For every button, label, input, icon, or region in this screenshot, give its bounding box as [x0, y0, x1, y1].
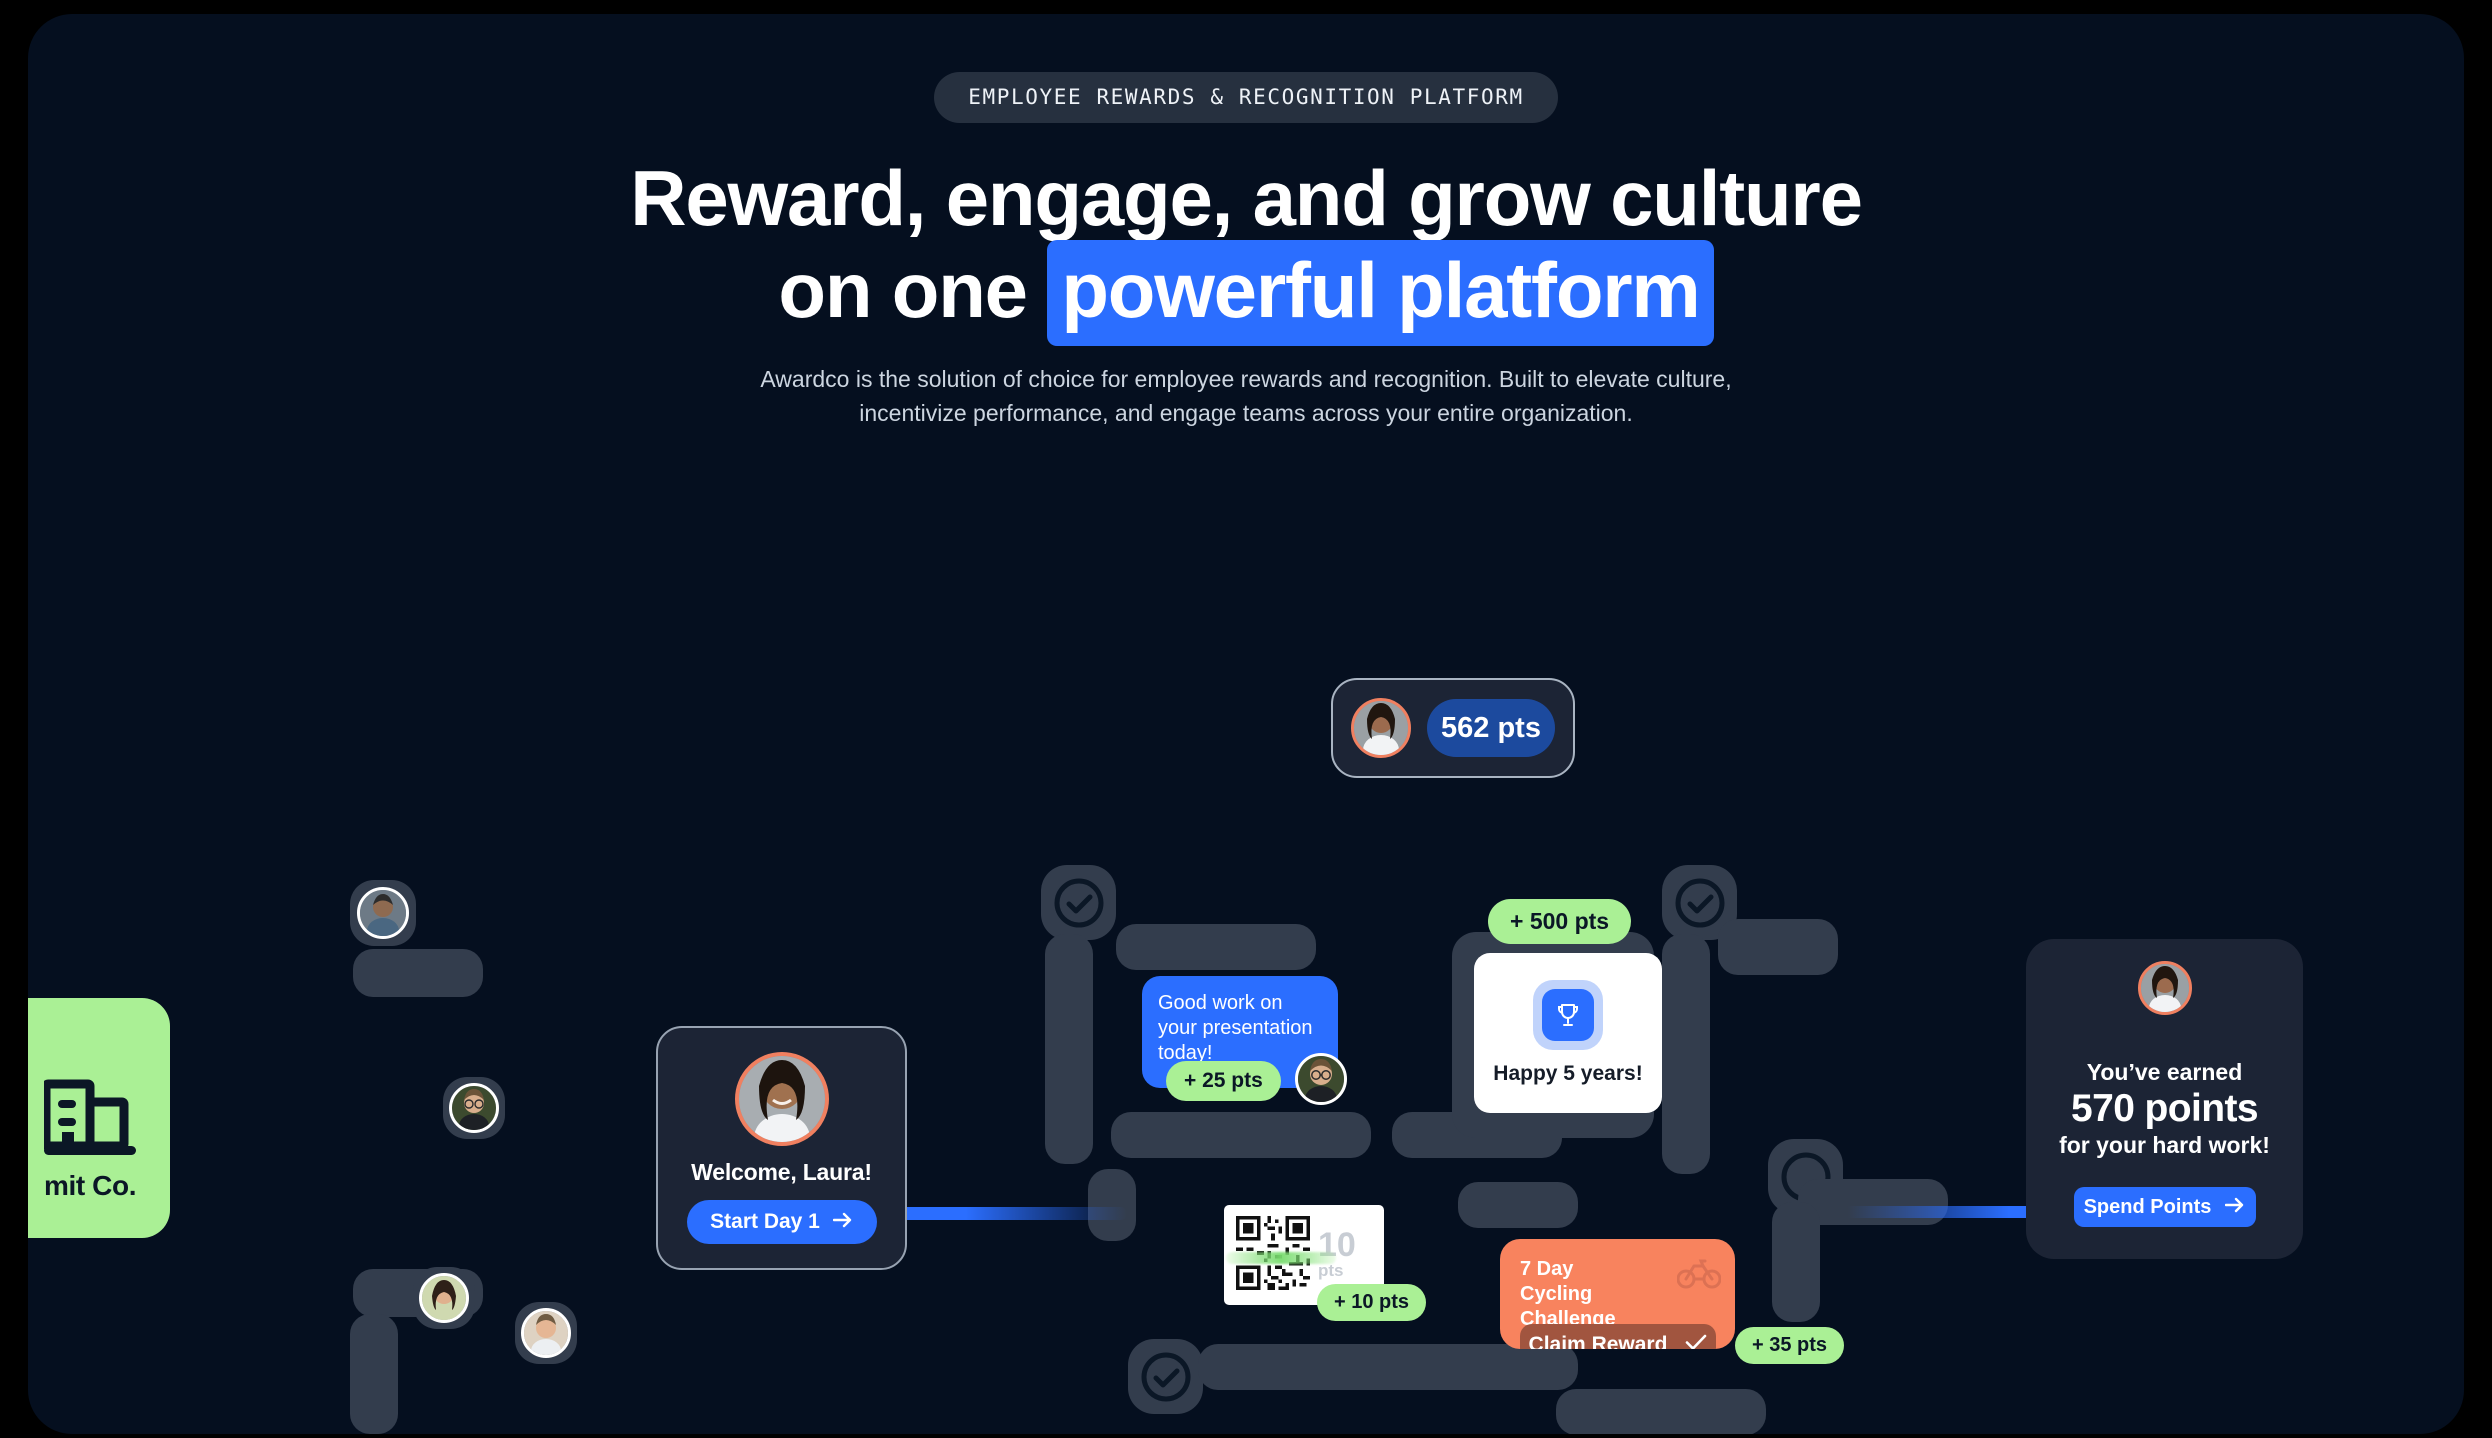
bicycle-icon — [1677, 1257, 1721, 1294]
maze-node-7 — [1045, 934, 1093, 1164]
arrow-right-icon — [833, 1210, 853, 1234]
trophy-icon — [1542, 989, 1594, 1041]
company-name: mit Co. — [44, 1170, 136, 1202]
start-day-label: Start Day 1 — [710, 1210, 820, 1234]
maze-node-19 — [350, 1314, 398, 1434]
headline-highlight: powerful platform — [1047, 240, 1713, 346]
cycling-points-badge: + 35 pts — [1735, 1327, 1844, 1364]
welcome-card: Welcome, Laura! Start Day 1 — [656, 1026, 907, 1270]
maze-node-15 — [1798, 1179, 1948, 1225]
eyebrow-badge: EMPLOYEE REWARDS & RECOGNITION PLATFORM — [934, 72, 1557, 123]
avatar — [1295, 1053, 1347, 1105]
headline-prefix: on one — [778, 246, 1047, 334]
welcome-greeting: Welcome, Laura! — [691, 1159, 872, 1186]
avatar-tile-4[interactable] — [515, 1302, 577, 1364]
check-icon — [1685, 1333, 1707, 1349]
anniversary-inner: Happy 5 years! — [1474, 953, 1662, 1113]
maze-node-10 — [1088, 1169, 1136, 1241]
maze-node-12 — [1198, 1344, 1578, 1390]
spend-points-label: Spend Points — [2084, 1196, 2212, 1219]
hero-subtitle: Awardco is the solution of choice for em… — [756, 362, 1736, 430]
avatar-tile-2[interactable] — [443, 1077, 505, 1139]
earned-amount: 570 points — [2071, 1087, 2258, 1131]
office-building-icon — [44, 1078, 136, 1165]
cycling-challenge-card: 7 Day Cycling Challenge Claim Reward — [1500, 1239, 1735, 1349]
cycling-title: 7 Day Cycling Challenge — [1520, 1257, 1650, 1332]
arrow-right-icon — [2225, 1196, 2245, 1219]
avatar — [357, 887, 409, 939]
qr-unit: pts — [1318, 1261, 1356, 1281]
points-value: 562 pts — [1427, 699, 1555, 757]
company-card[interactable]: mit Co. — [28, 998, 170, 1238]
maze-node-13 — [1556, 1389, 1766, 1434]
headline-line-1: Reward, engage, and grow culture — [28, 152, 2464, 244]
maze-node-8 — [1662, 934, 1710, 1174]
anniversary-title: Happy 5 years! — [1493, 1062, 1642, 1086]
maze-node-1 — [1041, 865, 1116, 940]
maze-node-17 — [353, 949, 483, 997]
avatar-tile-3[interactable] — [413, 1267, 475, 1329]
maze-node-5 — [1116, 924, 1316, 970]
claim-reward-button[interactable]: Claim Reward — [1520, 1324, 1716, 1349]
maze-node-4 — [1768, 1139, 1843, 1214]
qr-scan-beam — [1226, 1252, 1336, 1264]
eyebrow-wrap: EMPLOYEE REWARDS & RECOGNITION PLATFORM — [28, 72, 2464, 123]
maze-node-3 — [1128, 1339, 1203, 1414]
headline-line-2: on one powerful platform — [28, 244, 2464, 336]
maze-node-14 — [1458, 1182, 1578, 1228]
start-day-button[interactable]: Start Day 1 — [687, 1200, 877, 1244]
avatar — [419, 1273, 469, 1323]
page-root: EMPLOYEE REWARDS & RECOGNITION PLATFORM … — [0, 0, 2492, 1438]
maze-node-16 — [1772, 1202, 1820, 1322]
earned-points-card: You’ve earned 570 points for your hard w… — [2026, 939, 2303, 1259]
hero-panel: EMPLOYEE REWARDS & RECOGNITION PLATFORM … — [28, 14, 2464, 1434]
avatar — [735, 1052, 829, 1146]
anniversary-points: + 500 pts — [1488, 899, 1631, 944]
praise-points: + 25 pts — [1166, 1061, 1281, 1101]
avatar-tile-1[interactable] — [350, 880, 416, 946]
earned-line-3: for your hard work! — [2059, 1132, 2270, 1159]
page-title: Reward, engage, and grow culture on one … — [28, 152, 2464, 336]
maze-node-6 — [1718, 919, 1838, 975]
claim-reward-label: Claim Reward — [1529, 1333, 1668, 1349]
avatar — [1351, 698, 1411, 758]
avatar — [521, 1308, 571, 1358]
avatar — [449, 1083, 499, 1133]
earned-line-1: You’ve earned — [2087, 1059, 2243, 1086]
maze-node-9 — [1111, 1112, 1371, 1158]
qr-points-badge: + 10 pts — [1317, 1284, 1426, 1321]
praise-card: Good work on your presentation today! + … — [1142, 976, 1338, 1088]
avatar — [2138, 961, 2192, 1015]
points-badge[interactable]: 562 pts — [1331, 678, 1575, 778]
maze-node-2 — [1662, 865, 1737, 940]
trophy-icon-frame — [1533, 980, 1603, 1050]
start-day-connector — [897, 1207, 1127, 1220]
spend-points-button[interactable]: Spend Points — [2074, 1187, 2256, 1227]
anniversary-card: Happy 5 years! — [1452, 932, 1654, 1138]
